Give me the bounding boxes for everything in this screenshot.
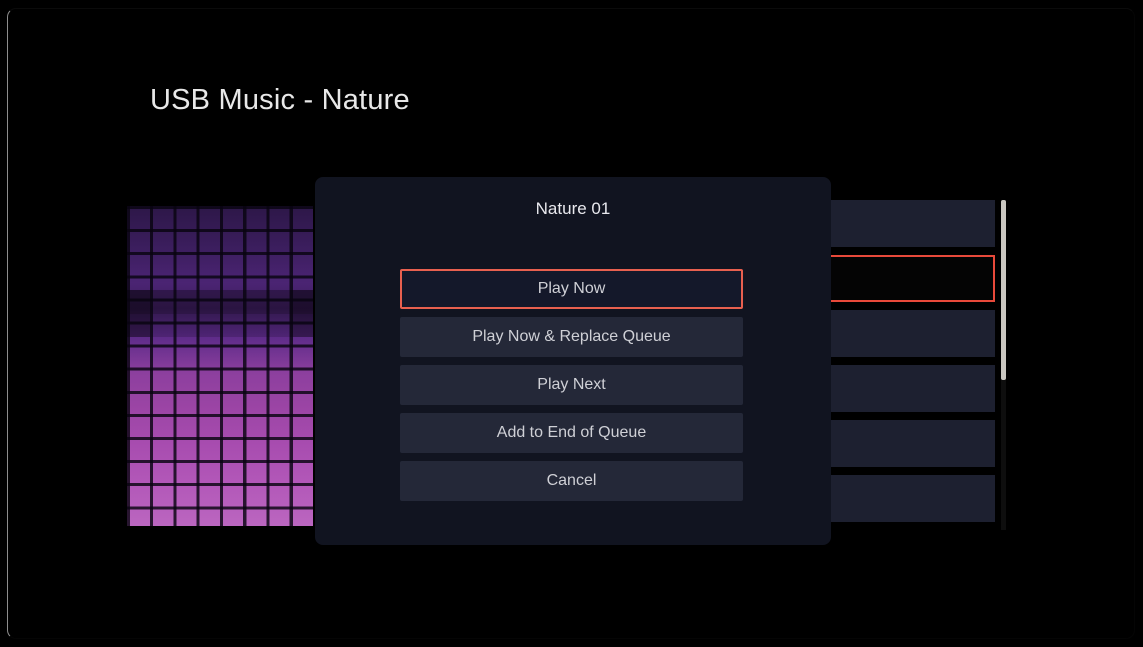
cancel-button[interactable]: Cancel bbox=[400, 461, 743, 501]
list-scrollbar[interactable] bbox=[1001, 200, 1006, 530]
album-art bbox=[127, 206, 313, 526]
add-to-end-of-queue-button[interactable]: Add to End of Queue bbox=[400, 413, 743, 453]
dialog-action-buttons: Play NowPlay Now & Replace QueuePlay Nex… bbox=[400, 269, 743, 509]
play-now-button[interactable]: Play Now bbox=[400, 269, 743, 309]
dialog-title: Nature 01 bbox=[315, 199, 831, 219]
album-art-tile-grid bbox=[127, 206, 313, 526]
app-screen: USB Music - Nature Nature 01 Play NowPla… bbox=[0, 0, 1143, 647]
play-next-button[interactable]: Play Next bbox=[400, 365, 743, 405]
track-action-dialog: Nature 01 Play NowPlay Now & Replace Que… bbox=[315, 177, 831, 545]
scrollbar-thumb[interactable] bbox=[1001, 200, 1006, 380]
play-now-replace-queue-button[interactable]: Play Now & Replace Queue bbox=[400, 317, 743, 357]
page-title: USB Music - Nature bbox=[150, 84, 410, 117]
